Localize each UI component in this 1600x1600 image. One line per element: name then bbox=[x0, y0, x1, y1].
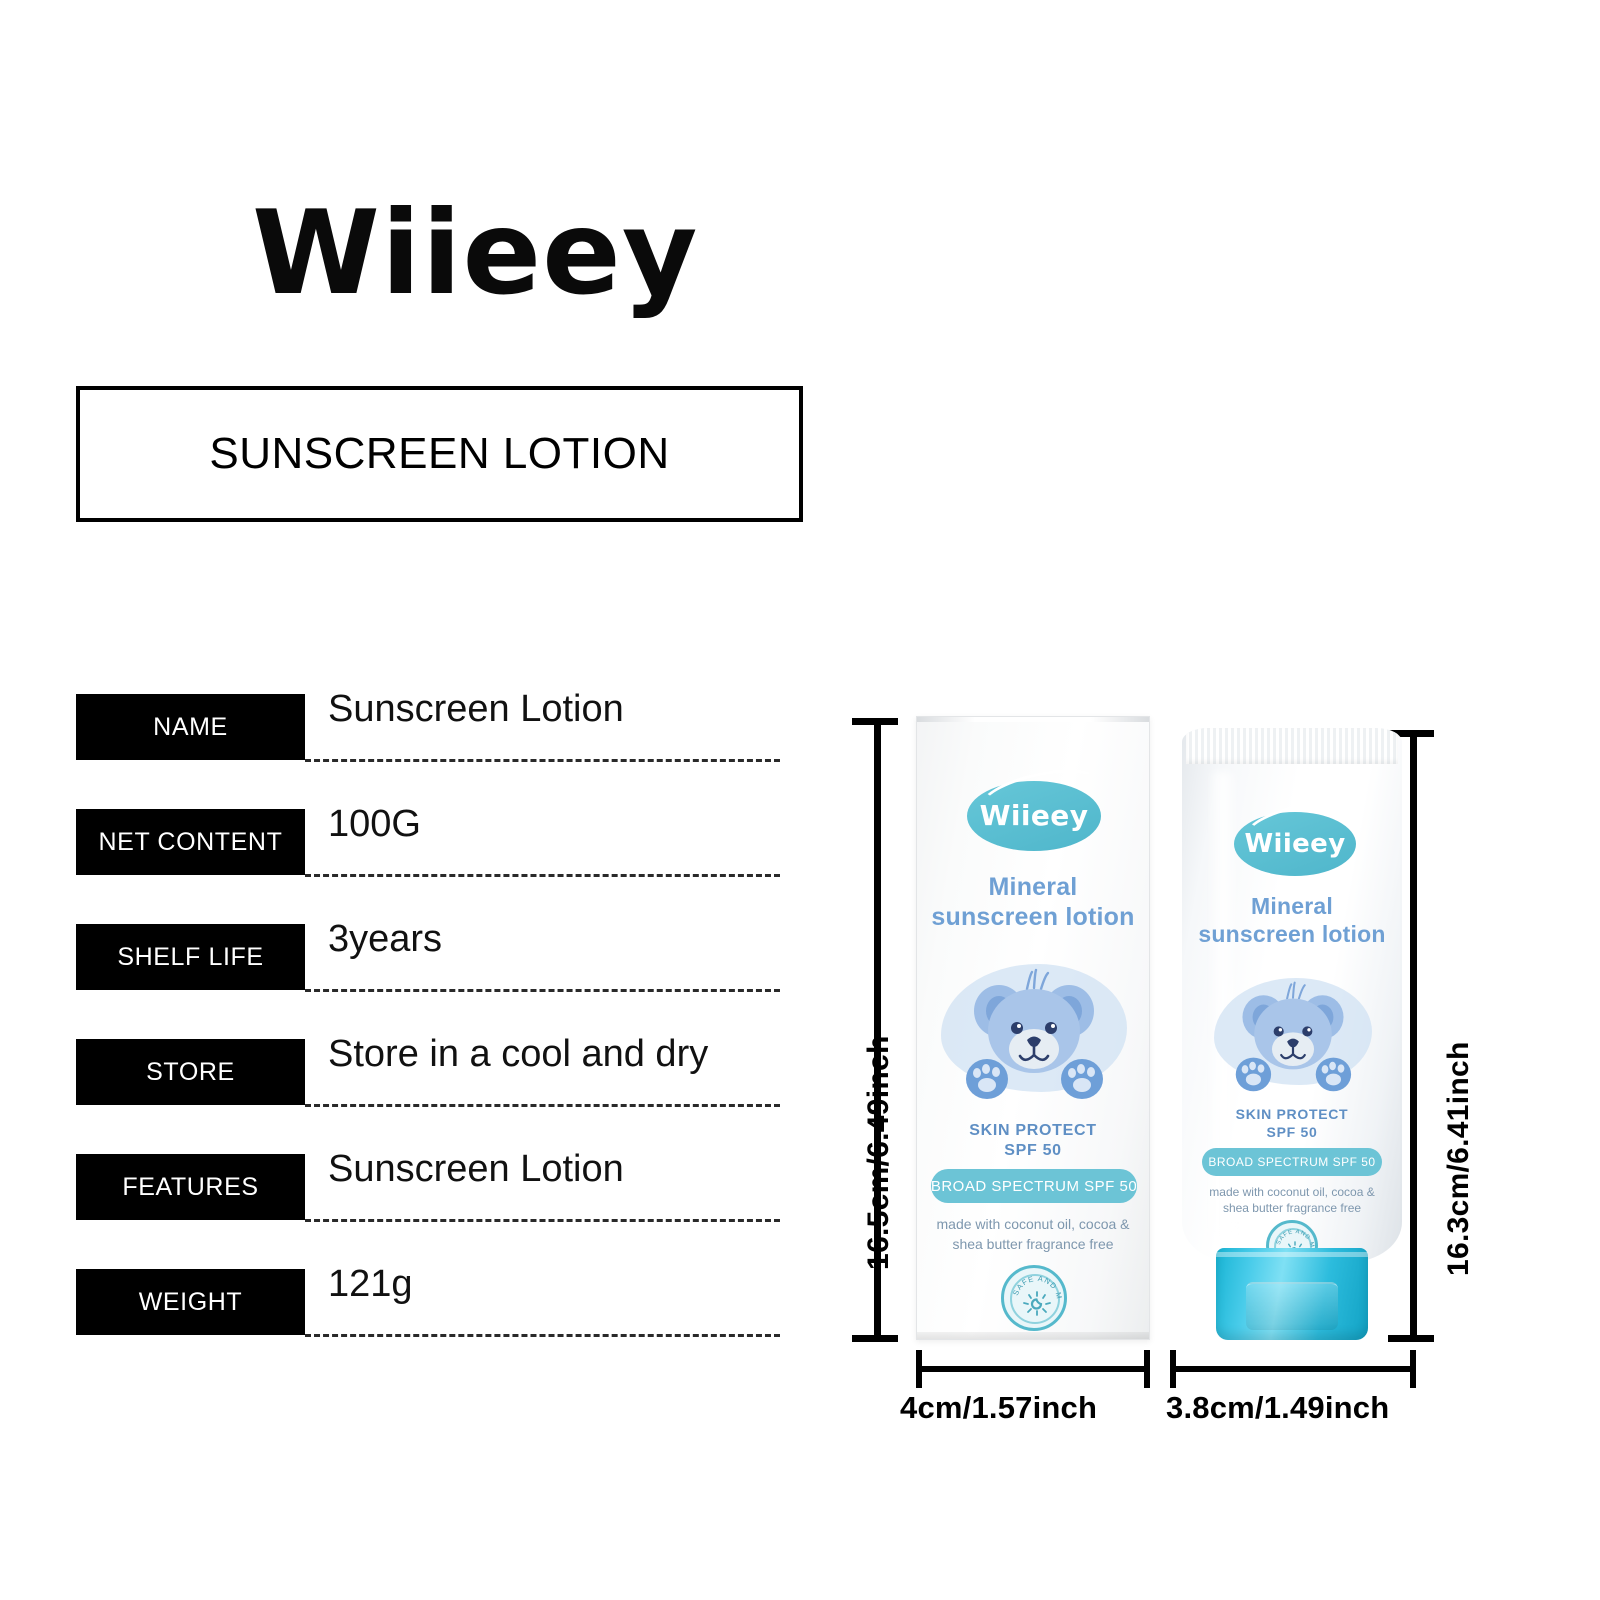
spec-value-text: Sunscreen Lotion bbox=[328, 688, 624, 731]
tube-broad-spectrum-pill: BROAD SPECTRUM SPF 50 bbox=[1202, 1148, 1382, 1176]
spec-dash-line bbox=[305, 989, 780, 992]
product-image-group: 16.5cm/6.49inch 16.3cm/6.41inch Wiieey M… bbox=[830, 690, 1470, 1450]
spec-label-chip: WEIGHT bbox=[76, 1269, 305, 1335]
spec-value-text: 3years bbox=[328, 918, 442, 961]
carton-skin-protect-line1: SKIN PROTECT bbox=[917, 1121, 1149, 1141]
bear-icon bbox=[941, 955, 1127, 1107]
spec-dash-line bbox=[305, 1334, 780, 1337]
carton-width-dim-cap-left bbox=[916, 1350, 922, 1388]
carton-broad-spectrum-pill: BROAD SPECTRUM SPF 50 bbox=[931, 1169, 1137, 1203]
spec-label-chip: STORE bbox=[76, 1039, 305, 1105]
tube-skin-protect-line1: SKIN PROTECT bbox=[1182, 1106, 1402, 1124]
spec-row-weight: WEIGHT 121g bbox=[76, 1269, 780, 1384]
tube-badge-text: SAFE AND MILD bbox=[1269, 1223, 1315, 1249]
spec-value-text: 121g bbox=[328, 1263, 413, 1306]
spec-value-text: Store in a cool and dry bbox=[328, 1033, 708, 1076]
tube-cap-ring bbox=[1216, 1252, 1368, 1257]
spec-value-text: Sunscreen Lotion bbox=[328, 1148, 624, 1191]
tube-made-with-line2: shea butter fragrance free bbox=[1182, 1200, 1402, 1216]
product-carton: Wiieey Mineral sunscreen lotion bbox=[916, 716, 1150, 1340]
tube-cap-notch bbox=[1246, 1282, 1338, 1330]
bear-illustration bbox=[941, 955, 1127, 1107]
tube-skin-protect-line2: SPF 50 bbox=[1182, 1124, 1402, 1142]
tube-width-label: 3.8cm/1.49inch bbox=[1166, 1390, 1389, 1426]
carton-skin-protect-line2: SPF 50 bbox=[917, 1141, 1149, 1161]
spec-label-chip: SHELF LIFE bbox=[76, 924, 305, 990]
spec-label-text: NET CONTENT bbox=[99, 828, 283, 857]
tube-width-dim-line bbox=[1170, 1366, 1416, 1372]
product-title-box: SUNSCREEN LOTION bbox=[76, 386, 803, 522]
spec-dash-line bbox=[305, 874, 780, 877]
tube-width-dim-cap-right bbox=[1410, 1350, 1416, 1388]
svg-text:SAFE AND MILD: SAFE AND MILD bbox=[1269, 1223, 1315, 1249]
carton-made-with-line1: made with coconut oil, cocoa & bbox=[917, 1215, 1149, 1234]
bear-paw-right bbox=[1061, 1059, 1103, 1099]
spec-label-chip: NET CONTENT bbox=[76, 809, 305, 875]
spec-label-chip: FEATURES bbox=[76, 1154, 305, 1220]
tube-height-dim-line bbox=[1410, 730, 1417, 1342]
tube-broad-spectrum-text: BROAD SPECTRUM SPF 50 bbox=[1208, 1155, 1375, 1169]
tube-width-dim-cap-left bbox=[1170, 1350, 1176, 1388]
bear-paw-left bbox=[966, 1059, 1008, 1099]
spec-table: NAME Sunscreen Lotion NET CONTENT 100G S… bbox=[76, 694, 780, 1384]
carton-safe-and-mild-badge: SAFE AND MILD bbox=[1001, 1265, 1067, 1331]
carton-artwork: Wiieey Mineral sunscreen lotion bbox=[917, 717, 1149, 1339]
carton-height-dim-cap-top bbox=[852, 718, 898, 725]
spec-dash-line bbox=[305, 1104, 780, 1107]
tube-height-label: 16.3cm/6.41inch bbox=[1442, 1041, 1476, 1276]
carton-width-dim-line bbox=[916, 1366, 1150, 1372]
carton-badge-text: SAFE AND MILD bbox=[1004, 1268, 1064, 1301]
tube-product-title-line1: Mineral bbox=[1182, 894, 1402, 920]
carton-height-label: 16.5cm/6.49inch bbox=[862, 1035, 896, 1270]
tube-made-with-line1: made with coconut oil, cocoa & bbox=[1182, 1184, 1402, 1200]
carton-width-label: 4cm/1.57inch bbox=[900, 1390, 1097, 1426]
tube-bear-illustration bbox=[1214, 970, 1372, 1098]
tube-bear-icon bbox=[1214, 970, 1372, 1098]
product-tube: Wiieey Mineral sunscreen lotion bbox=[1182, 728, 1402, 1340]
tube-product-title-line2: sunscreen lotion bbox=[1182, 922, 1402, 948]
sun-spiral-icon: SAFE AND MILD bbox=[1004, 1268, 1070, 1334]
spec-label-text: STORE bbox=[146, 1058, 235, 1087]
brand-wordmark: Wiieey bbox=[252, 196, 698, 312]
spec-row-features: FEATURES Sunscreen Lotion bbox=[76, 1154, 780, 1269]
spec-row-name: NAME Sunscreen Lotion bbox=[76, 694, 780, 809]
carton-product-title-line2: sunscreen lotion bbox=[917, 903, 1149, 931]
carton-height-dim-cap-bottom bbox=[852, 1335, 898, 1342]
tube-body: Wiieey Mineral sunscreen lotion bbox=[1182, 728, 1402, 1262]
tube-cap bbox=[1216, 1248, 1368, 1340]
product-title-text: SUNSCREEN LOTION bbox=[209, 429, 669, 479]
spec-label-text: FEATURES bbox=[122, 1173, 258, 1202]
tube-artwork: Wiieey Mineral sunscreen lotion bbox=[1182, 728, 1402, 1262]
spec-row-net-content: NET CONTENT 100G bbox=[76, 809, 780, 924]
spec-label-text: NAME bbox=[153, 713, 228, 742]
spec-row-store: STORE Store in a cool and dry bbox=[76, 1039, 780, 1154]
spec-row-shelf-life: SHELF LIFE 3years bbox=[76, 924, 780, 1039]
spec-value-text: 100G bbox=[328, 803, 421, 846]
carton-width-dim-cap-right bbox=[1144, 1350, 1150, 1388]
carton-broad-spectrum-text: BROAD SPECTRUM SPF 50 bbox=[931, 1178, 1137, 1195]
spec-dash-line bbox=[305, 759, 780, 762]
carton-made-with-line2: shea butter fragrance free bbox=[917, 1235, 1149, 1254]
spec-label-text: SHELF LIFE bbox=[117, 943, 263, 972]
product-infographic: Wiieey SUNSCREEN LOTION NAME Sunscreen L… bbox=[0, 0, 1600, 1600]
spec-dash-line bbox=[305, 1219, 780, 1222]
carton-product-title-line1: Mineral bbox=[917, 873, 1149, 901]
spec-label-chip: NAME bbox=[76, 694, 305, 760]
svg-text:SAFE AND MILD: SAFE AND MILD bbox=[1004, 1268, 1064, 1301]
spec-label-text: WEIGHT bbox=[139, 1288, 243, 1317]
